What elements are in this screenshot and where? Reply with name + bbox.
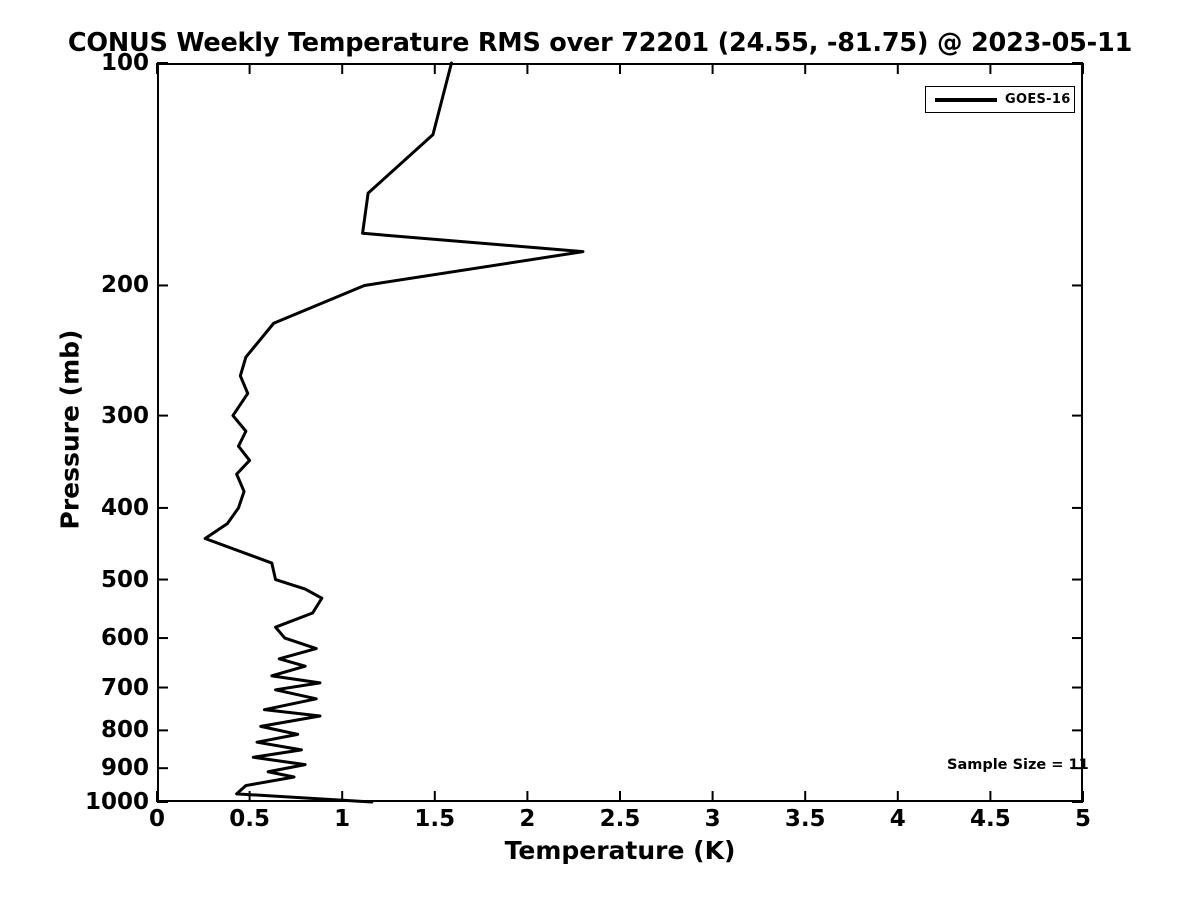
chart-figure: CONUS Weekly Temperature RMS over 72201 … bbox=[0, 0, 1200, 900]
y-tick-label-500: 500 bbox=[39, 567, 149, 593]
legend-label-goes-16: GOES-16 bbox=[1005, 92, 1071, 107]
x-tick-label-3.5: 3.5 bbox=[765, 806, 845, 832]
x-tick-label-0: 0 bbox=[117, 806, 197, 832]
x-tick-label-1.5: 1.5 bbox=[395, 806, 475, 832]
y-tick-label-400: 400 bbox=[39, 495, 149, 521]
x-tick-label-1: 1 bbox=[302, 806, 382, 832]
x-tick-label-0.5: 0.5 bbox=[210, 806, 290, 832]
x-tick-label-2.5: 2.5 bbox=[580, 806, 660, 832]
y-tick-label-300: 300 bbox=[39, 403, 149, 429]
y-tick-label-800: 800 bbox=[39, 717, 149, 743]
legend-line-swatch-goes-16 bbox=[935, 98, 997, 102]
x-tick-label-4: 4 bbox=[858, 806, 938, 832]
x-tick-label-3: 3 bbox=[673, 806, 753, 832]
x-tick-label-5: 5 bbox=[1043, 806, 1123, 832]
y-tick-label-900: 900 bbox=[39, 755, 149, 781]
x-tick-label-4.5: 4.5 bbox=[950, 806, 1030, 832]
sample-size-annotation: Sample Size = 11 bbox=[947, 757, 1089, 773]
y-tick-label-700: 700 bbox=[39, 675, 149, 701]
chart-title: CONUS Weekly Temperature RMS over 72201 … bbox=[0, 28, 1200, 58]
x-tick-label-2: 2 bbox=[487, 806, 567, 832]
y-tick-label-600: 600 bbox=[39, 625, 149, 651]
y-tick-label-100: 100 bbox=[39, 50, 149, 76]
plot-area bbox=[157, 63, 1083, 802]
legend[interactable]: GOES-16 bbox=[925, 86, 1075, 113]
y-tick-label-200: 200 bbox=[39, 272, 149, 298]
y-axis-tick-labels: 1002003004005006007008009001000 bbox=[35, 0, 149, 900]
x-axis-label: Temperature (K) bbox=[157, 836, 1083, 865]
